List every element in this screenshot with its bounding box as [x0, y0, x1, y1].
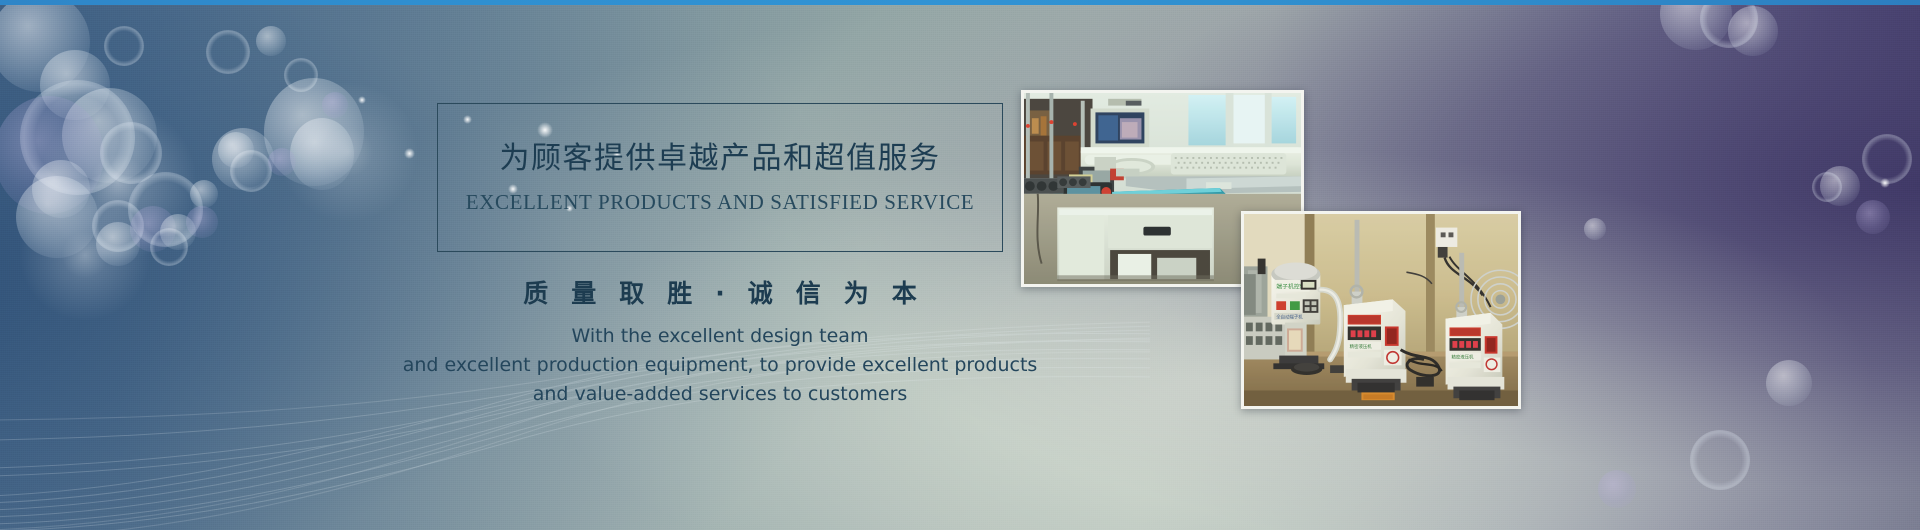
- press-machines-image: 端子机控制器 全自动端子机: [1244, 214, 1518, 406]
- headline-english: EXCELLENT PRODUCTS AND SATISFIED SERVICE: [437, 190, 1003, 215]
- description-line-3: and value-added services to customers: [330, 380, 1110, 409]
- press-machines-photo: 端子机控制器 全自动端子机: [1241, 211, 1521, 409]
- description-line-1: With the excellent design team: [330, 322, 1110, 351]
- description-paragraph: With the excellent design team and excel…: [330, 322, 1110, 409]
- headline-chinese: 为顾客提供卓越产品和超值服务: [437, 133, 1003, 177]
- headline-frame: [437, 103, 1003, 252]
- top-accent-bar: [0, 0, 1920, 5]
- background-noise-texture: [0, 0, 1920, 530]
- description-line-2: and excellent production equipment, to p…: [330, 351, 1110, 380]
- promo-banner: 为顾客提供卓越产品和超值服务 EXCELLENT PRODUCTS AND SA…: [0, 0, 1920, 530]
- slogan-chinese: 质量取胜·诚信为本: [420, 274, 1020, 310]
